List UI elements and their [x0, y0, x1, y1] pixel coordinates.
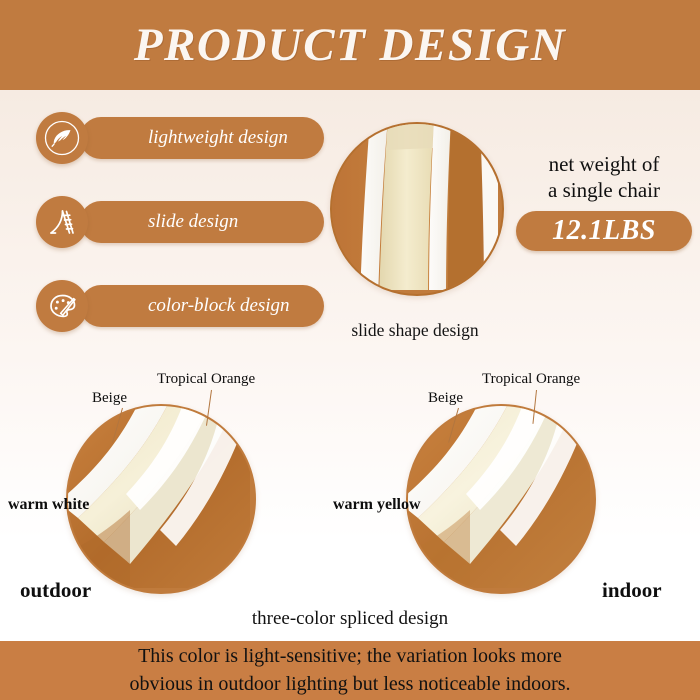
detail-outdoor-photo: [66, 404, 256, 594]
net-weight-callout: net weight of a single chair 12.1LBS: [516, 152, 692, 251]
footer-line-2: obvious in outdoor lighting but less not…: [129, 671, 570, 699]
detail-outdoor: Beige Tropical Orange warm white outdoor: [0, 360, 350, 620]
footer-disclaimer-bar: This color is light-sensitive; the varia…: [0, 641, 700, 700]
feature-label: color-block design: [148, 295, 290, 317]
three-color-caption: three-color spliced design: [0, 608, 700, 630]
feather-icon: [36, 112, 88, 164]
net-weight-line2: a single chair: [516, 178, 692, 204]
page-title: PRODUCT DESIGN: [134, 18, 566, 72]
footer-line-1: This color is light-sensitive; the varia…: [138, 643, 562, 671]
feature-label: slide design: [148, 211, 238, 233]
label-tropical-orange: Tropical Orange: [482, 371, 580, 388]
net-weight-badge: 12.1LBS: [516, 211, 692, 251]
feature-pill: lightweight design: [80, 117, 324, 159]
feature-label: lightweight design: [148, 127, 288, 149]
outdoor-illustration: [68, 406, 250, 588]
feature-item-lightweight[interactable]: lightweight design: [36, 112, 306, 164]
detail-indoor: Beige Tropical Orange warm yellow indoor: [330, 360, 700, 620]
slide-shape-illustration: [332, 124, 498, 290]
palette-icon: [36, 280, 88, 332]
slide-shape-detail: [330, 122, 500, 292]
label-outdoor: outdoor: [20, 578, 91, 603]
detail-indoor-photo: [406, 404, 596, 594]
feature-pill: color-block design: [80, 285, 324, 327]
feature-item-slide[interactable]: slide design: [36, 196, 306, 248]
slide-shape-photo: [330, 122, 504, 296]
label-warm-yellow: warm yellow: [333, 496, 421, 514]
header-bar: PRODUCT DESIGN: [0, 0, 700, 90]
feature-list: lightweight design slide design: [36, 112, 306, 364]
net-weight-line1: net weight of: [516, 152, 692, 178]
label-beige: Beige: [92, 390, 127, 407]
label-tropical-orange: Tropical Orange: [157, 371, 255, 388]
slide-icon: [36, 196, 88, 248]
slide-shape-caption: slide shape design: [320, 320, 510, 341]
label-warm-white: warm white: [8, 496, 89, 514]
indoor-illustration: [408, 406, 590, 588]
feature-item-color-block[interactable]: color-block design: [36, 280, 306, 332]
feature-pill: slide design: [80, 201, 324, 243]
net-weight-value: 12.1LBS: [552, 215, 656, 247]
label-indoor: indoor: [602, 578, 662, 603]
product-design-infographic: PRODUCT DESIGN lightweight design slide …: [0, 0, 700, 700]
label-beige: Beige: [428, 390, 463, 407]
